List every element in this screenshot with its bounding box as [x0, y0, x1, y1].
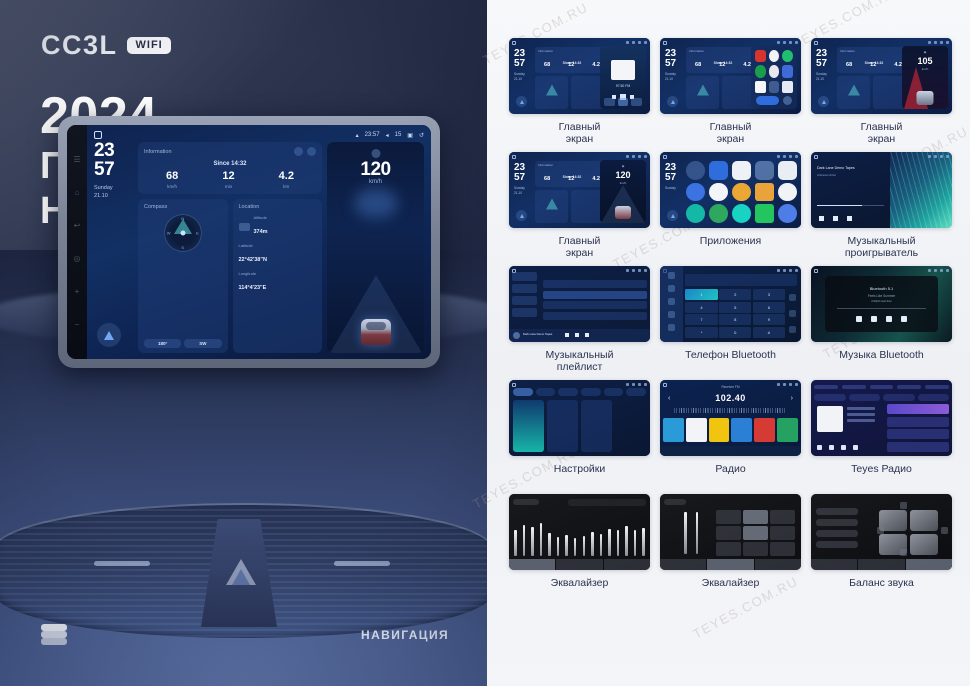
- metric-speed-unit: km/h: [166, 184, 178, 189]
- expand-icon[interactable]: [307, 147, 316, 156]
- recent-apps-icon[interactable]: ▣: [407, 132, 413, 139]
- latitude-value: 22°42'38"N: [239, 257, 267, 263]
- metric-time: 12 min: [222, 171, 234, 189]
- logo-text: CC3L: [41, 30, 118, 61]
- hw-back-icon[interactable]: ↩: [73, 221, 82, 230]
- home-icon[interactable]: [94, 131, 102, 139]
- longitude-label: Longitude: [239, 271, 317, 276]
- compass-direction: SW: [184, 339, 221, 348]
- gallery-caption: Главный экран: [559, 121, 601, 147]
- clock-date: 21.10: [94, 192, 133, 200]
- caption-line1: Приложения: [700, 235, 761, 247]
- thumbnail-equalizer-presets[interactable]: [660, 494, 801, 570]
- altitude-label: Altitude: [254, 215, 268, 220]
- caption-line1: Музыкальный: [546, 349, 614, 361]
- car-graphic: [361, 319, 391, 345]
- gallery-caption: Музыкальный проигрыватель: [845, 235, 918, 261]
- gallery-caption: Главный экран: [861, 121, 903, 147]
- gallery-item[interactable]: Teyes Радио: [811, 380, 952, 489]
- gallery-grid: 2357 Sunday21.10 InformationSince 14:32 …: [509, 38, 952, 603]
- metric-time-unit: min: [222, 184, 234, 189]
- metric-speed-value: 68: [166, 171, 178, 182]
- hardware-button-strip[interactable]: ☰ ⌂ ↩ ◎ + −: [67, 125, 87, 359]
- navigation-arrow-icon[interactable]: [97, 323, 121, 347]
- gallery-item[interactable]: Bluetooth 5.1 Feels Like Summer Childish…: [811, 266, 952, 375]
- information-metrics: 68 km/h 12 min 4.2 km: [144, 171, 316, 189]
- gallery-caption: Настройки: [554, 463, 606, 489]
- balance-right-icon[interactable]: [941, 527, 948, 534]
- status-volume: 15: [395, 132, 402, 138]
- status-clock: 23:57: [365, 132, 380, 138]
- hw-vol-up-icon[interactable]: +: [73, 287, 82, 296]
- speed-icon: [371, 149, 380, 158]
- gallery-item[interactable]: 2357 Sunday: [660, 152, 801, 261]
- caption-line2: экран: [861, 133, 903, 145]
- widgets-column: Information Since 14:32 68 km/h: [138, 142, 322, 353]
- thumbnail-radio[interactable]: Receiver FM 102.40 ‹ ›: [660, 380, 801, 456]
- gallery-item[interactable]: Настройки: [509, 380, 650, 489]
- compass-east: E: [196, 231, 199, 236]
- information-card[interactable]: Information Since 14:32 68 km/h: [138, 142, 322, 194]
- caption-line1: Эквалайзер: [551, 577, 609, 589]
- gallery-caption: Баланс звука: [849, 577, 914, 603]
- longitude-value: 114°4'23"E: [239, 285, 267, 291]
- vent-knob-left[interactable]: [94, 561, 150, 566]
- compass-title: Compass: [144, 204, 222, 210]
- location-latitude: Latitude 22°42'38"N: [239, 243, 317, 266]
- information-header: Information: [144, 147, 316, 156]
- clock-minutes: 57: [94, 161, 133, 180]
- gallery-item[interactable]: 2357 Sunday21.10 InformationSince 14:32 …: [509, 152, 650, 261]
- caption-line2: экран: [710, 133, 752, 145]
- caption-line1: Teyes Радио: [851, 463, 912, 475]
- hazard-triangle-inner-icon: [232, 569, 250, 585]
- caption-line1: Главный: [710, 121, 752, 133]
- thumbnail-bt-music[interactable]: Bluetooth 5.1 Feels Like Summer Childish…: [811, 266, 952, 342]
- gallery-item[interactable]: Dark Lane Demo Tapes Unknown Artist Музы…: [811, 152, 952, 261]
- compass-south: S: [181, 245, 184, 250]
- hw-vol-down-icon[interactable]: −: [73, 320, 82, 329]
- hero-panel: CC3L WIFI 2024 Презентация Нового Продук…: [0, 0, 487, 686]
- caption-line1: Музыкальный: [845, 235, 918, 247]
- caption-line1: Баланс звука: [849, 577, 914, 589]
- thumb-speed-value: 120: [600, 170, 646, 180]
- wifi-badge: WIFI: [127, 37, 171, 54]
- head-unit-screen[interactable]: ☰ ⌂ ↩ ◎ + − ▴ 23:57 ◂ 15: [67, 125, 431, 359]
- gallery-item[interactable]: Баланс звука: [811, 494, 952, 603]
- gallery-caption: Музыка Bluetooth: [839, 349, 923, 375]
- thumbnail-settings[interactable]: [509, 380, 650, 456]
- gallery-item[interactable]: Эквалайзер: [509, 494, 650, 603]
- gallery-item[interactable]: Dark Lane Demo Tapes Музыкальный плейлис…: [509, 266, 650, 375]
- compass-readouts: 180° SW: [144, 339, 222, 348]
- thumbnail-teyes-radio[interactable]: [811, 380, 952, 456]
- balance-left-icon[interactable]: [877, 527, 884, 534]
- gallery-item[interactable]: Эквалайзер: [660, 494, 801, 603]
- navigation-label: НАВИГАЦИЯ: [361, 628, 449, 642]
- compass-heading: 180°: [144, 339, 181, 348]
- gallery-item[interactable]: Receiver FM 102.40 ‹ › Радио: [660, 380, 801, 489]
- head-unit-bezel: ☰ ⌂ ↩ ◎ + − ▴ 23:57 ◂ 15: [58, 116, 440, 368]
- radio-frequency: 102.40: [660, 393, 801, 403]
- gallery-caption: Эквалайзер: [702, 577, 760, 603]
- thumbnail-sound-balance[interactable]: [811, 494, 952, 570]
- clock-day: Sunday: [94, 184, 133, 192]
- latitude-label: Latitude: [239, 243, 317, 248]
- compass-card[interactable]: Compass N E S W: [138, 199, 228, 353]
- hw-menu-icon[interactable]: ☰: [73, 155, 82, 164]
- caption-line1: Радио: [715, 463, 745, 475]
- status-bar: ▴ 23:57 ◂ 15 ▣ ↺: [87, 128, 431, 142]
- metric-speed: 68 km/h: [166, 171, 178, 189]
- head-unit-body: 23 57 Sunday 21.10 Information: [94, 142, 424, 353]
- caption-line1: Главный: [559, 121, 601, 133]
- thumbnail-home-apps[interactable]: 2357 Sunday21.10 InformationSince 14:32 …: [660, 38, 801, 114]
- thumbnail-home-media[interactable]: 2357 Sunday21.10 InformationSince 14:32 …: [509, 38, 650, 114]
- thumbnail-home-speed[interactable]: 2357 Sunday21.10 InformationSince 14:32 …: [509, 152, 650, 228]
- speed-widget[interactable]: 120 km/h: [327, 142, 424, 353]
- gallery-caption: Teyes Радио: [851, 463, 912, 489]
- head-unit-ui[interactable]: ▴ 23:57 ◂ 15 ▣ ↺ 23 57 Sunday: [87, 125, 431, 359]
- caption-line1: Музыка Bluetooth: [839, 349, 923, 361]
- gallery-item[interactable]: 2357 Sunday21.10 InformationSince 14:32 …: [509, 38, 650, 147]
- brand-logo: CC3L WIFI: [41, 30, 171, 61]
- hw-home-icon[interactable]: ⌂: [73, 188, 82, 197]
- caption-line1: Главный: [559, 235, 601, 247]
- thumbnail-music-player[interactable]: Dark Lane Demo Tapes Unknown Artist: [811, 152, 952, 228]
- vent-knob-right[interactable]: [334, 561, 390, 566]
- caption-line2: экран: [559, 247, 601, 259]
- speed-value: 120: [327, 159, 424, 181]
- caption-line2: проигрыватель: [845, 247, 918, 259]
- balance-down-icon[interactable]: [900, 549, 907, 556]
- metric-distance-unit: km: [279, 184, 294, 189]
- compass-west: W: [167, 231, 171, 236]
- hw-voice-icon[interactable]: ◎: [73, 254, 82, 263]
- compass-needle-icon: [180, 231, 185, 236]
- location-altitude: Altitude 374m: [239, 215, 317, 238]
- layers-icon: [41, 624, 67, 646]
- location-longitude: Longitude 114°4'23"E: [239, 271, 317, 294]
- speed-unit: km/h: [327, 179, 424, 185]
- caption-line1: Настройки: [554, 463, 606, 475]
- clock-hours: 23: [94, 142, 133, 161]
- caption-line2: экран: [559, 133, 601, 145]
- caption-line1: Телефон Bluetooth: [685, 349, 776, 361]
- radio-prev-icon[interactable]: ‹: [668, 395, 670, 402]
- wifi-icon[interactable]: ▴: [356, 132, 359, 139]
- altitude-value: 374m: [254, 229, 268, 235]
- gallery-item[interactable]: 2357 Sunday21.10 InformationSince 14:32 …: [660, 38, 801, 147]
- location-title: Location: [239, 204, 317, 210]
- gallery-caption: Главный экран: [559, 235, 601, 261]
- gallery-caption: Эквалайзер: [551, 577, 609, 603]
- clock-widget[interactable]: 23 57 Sunday 21.10: [94, 142, 133, 353]
- metric-time-value: 12: [222, 171, 234, 182]
- thumbnail-bt-phone[interactable]: 123 456 789 *0#: [660, 266, 801, 342]
- thumbnail-home-speed-red[interactable]: 2357 Sunday21.10 InformationSince 14:32 …: [811, 38, 952, 114]
- gallery-caption: Приложения: [700, 235, 761, 261]
- bluetooth-version: Bluetooth 5.1: [825, 286, 938, 291]
- car-dashboard: ☰ ⌂ ↩ ◎ + − ▴ 23:57 ◂ 15: [0, 256, 487, 686]
- status-right-group: ▴ 23:57 ◂ 15 ▣ ↺: [356, 132, 424, 139]
- radio-band: Receiver FM: [660, 385, 801, 389]
- gallery-caption: Главный экран: [710, 121, 752, 147]
- caption-line1: Эквалайзер: [702, 577, 760, 589]
- volume-icon[interactable]: ◂: [386, 132, 389, 139]
- thumbnail-equalizer-bands[interactable]: [509, 494, 650, 570]
- gallery-caption: Телефон Bluetooth: [685, 349, 776, 375]
- gallery-caption: Музыкальный плейлист: [546, 349, 614, 375]
- gallery-item[interactable]: 2357 Sunday21.10 InformationSince 14:32 …: [811, 38, 952, 147]
- caption-line1: Главный: [861, 121, 903, 133]
- caption-line2: плейлист: [546, 361, 614, 373]
- gallery-caption: Радио: [715, 463, 745, 489]
- radio-next-icon[interactable]: ›: [791, 395, 793, 402]
- air-vent: [0, 503, 487, 638]
- metric-distance-value: 4.2: [279, 171, 294, 182]
- gallery-item[interactable]: 123 456 789 *0# Телефон Bluetooth: [660, 266, 801, 375]
- widgets-row: Compass N E S W: [138, 199, 322, 353]
- mountain-icon: [239, 223, 250, 231]
- gear-icon[interactable]: [294, 147, 303, 156]
- screens-gallery: TEYES.COM.RU TEYES.COM.RU TEYES.COM.RU T…: [487, 0, 970, 686]
- location-card[interactable]: Location Altitude 374m: [233, 199, 323, 353]
- compass-dial: N E S W: [164, 214, 202, 252]
- metric-distance: 4.2 km: [279, 171, 294, 189]
- balance-up-icon[interactable]: [900, 502, 907, 509]
- information-since: Since 14:32: [144, 161, 316, 167]
- thumbnail-playlist[interactable]: Dark Lane Demo Tapes: [509, 266, 650, 342]
- road-glow: [354, 188, 398, 218]
- thumbnail-apps[interactable]: 2357 Sunday: [660, 152, 801, 228]
- back-icon[interactable]: ↺: [419, 132, 424, 139]
- thumb-speed-value: 105: [902, 56, 948, 66]
- information-title: Information: [144, 149, 172, 155]
